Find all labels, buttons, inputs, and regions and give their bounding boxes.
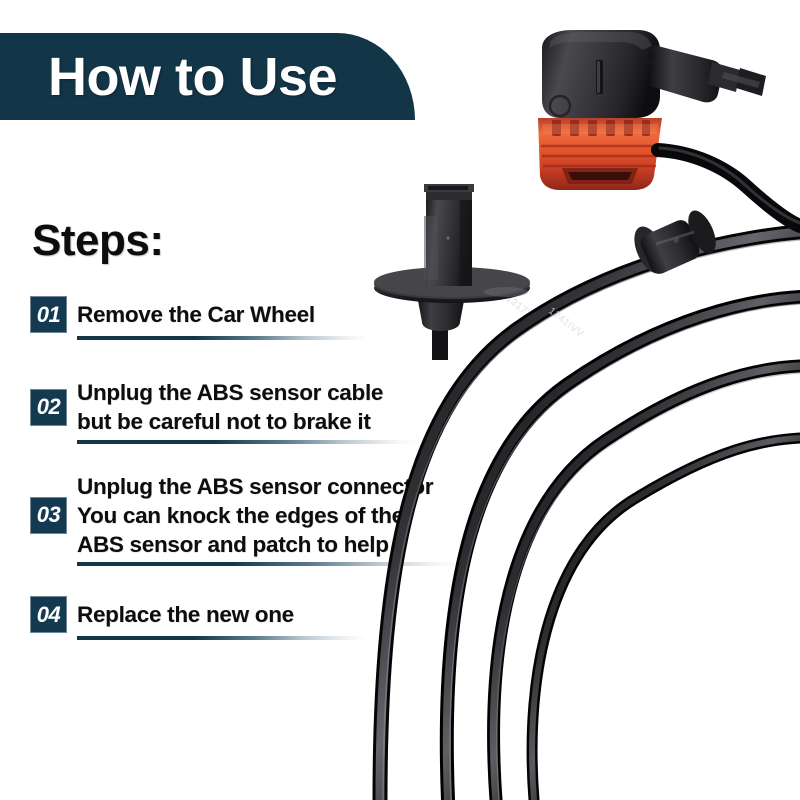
- step-item-03: 03 Unplug the ABS sensor connector You c…: [0, 472, 470, 567]
- step-underline-02: [77, 440, 417, 444]
- page-title: How to Use: [48, 50, 337, 104]
- step-number-badge-01: 01: [30, 296, 67, 333]
- step-underline-04: [77, 636, 367, 640]
- step-text-line: but be careful not to brake it: [77, 407, 470, 436]
- cable-marking-text-2: 1241IVV: [546, 306, 585, 340]
- step-text-line: You can knock the edges of the: [77, 501, 470, 530]
- step-text-03: Unplug the ABS sensor connector You can …: [77, 472, 470, 560]
- steps-heading: Steps:: [32, 219, 163, 263]
- step-text-01: Remove the Car Wheel: [77, 300, 470, 329]
- step-text-line: ABS sensor and patch to help: [77, 530, 470, 559]
- connector-seal: [538, 118, 662, 190]
- step-text-04: Replace the new one: [77, 600, 470, 629]
- step-item-04: 04 Replace the new one: [0, 596, 470, 640]
- step-text-line: Remove the Car Wheel: [77, 300, 470, 329]
- cable-grommet-clip: [628, 207, 721, 279]
- cable-marking: 2115401217: [476, 272, 529, 317]
- abs-sensor-connector: [538, 30, 800, 226]
- step-item-02: 02 Unplug the ABS sensor cable but be ca…: [0, 378, 470, 444]
- step-text-02: Unplug the ABS sensor cable but be caref…: [77, 378, 470, 437]
- cable-marking-2-group: 1241IVV: [546, 306, 585, 340]
- step-underline-03: [77, 562, 460, 566]
- step-number-badge-04: 04: [30, 596, 67, 633]
- header-banner: How to Use: [0, 33, 415, 120]
- step-text-line: Unplug the ABS sensor connector: [77, 472, 470, 501]
- step-text-line: Replace the new one: [77, 600, 470, 629]
- step-text-line: Unplug the ABS sensor cable: [77, 378, 470, 407]
- step-underline-01: [77, 336, 370, 340]
- step-item-01: 01 Remove the Car Wheel: [0, 296, 470, 340]
- step-number-badge-03: 03: [30, 497, 67, 534]
- cable-marking-text-1: 2115401217: [476, 272, 529, 317]
- step-number-badge-02: 02: [30, 389, 67, 426]
- steps-list: 01 Remove the Car Wheel 02 Unplug the AB…: [0, 296, 470, 660]
